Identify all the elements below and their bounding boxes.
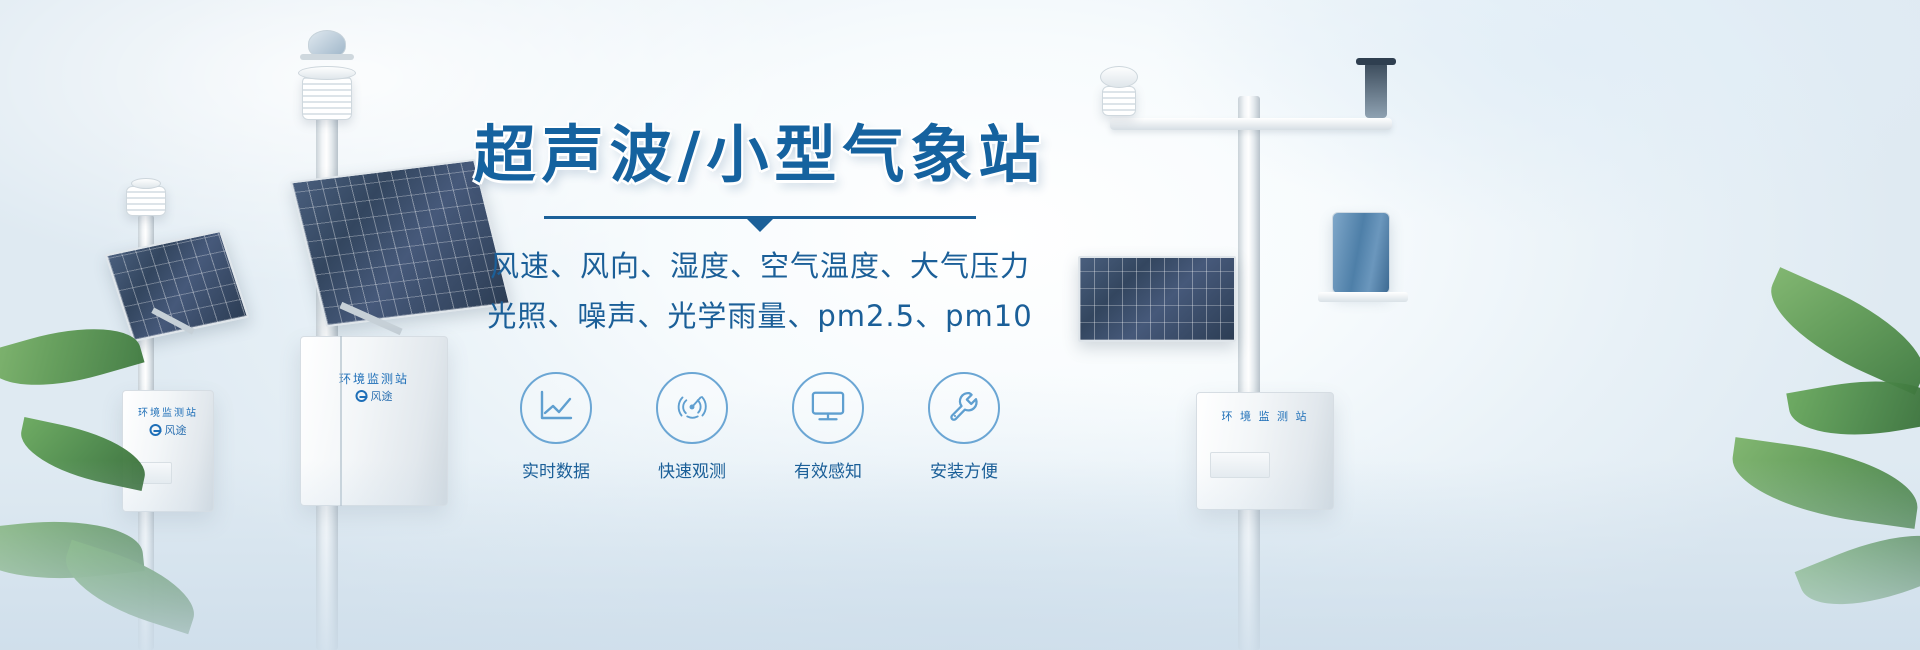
leaf-decoration-right-1 — [1755, 267, 1920, 395]
leaf-decoration-right-4 — [1795, 512, 1920, 628]
leaf-decoration-right-3 — [1726, 437, 1920, 529]
radar-signal-icon — [673, 387, 711, 430]
cabinet-label-left: 环境监测站 — [138, 404, 198, 419]
feature-icon-circle-1 — [520, 372, 592, 444]
cabinet-label-right: 环 境 监 测 站 — [1222, 408, 1309, 424]
feature-icon-circle-4 — [928, 372, 1000, 444]
feature-icon-circle-2 — [656, 372, 728, 444]
ground-haze — [0, 460, 1920, 650]
feature-item-easy-installation[interactable]: 安装方便 — [920, 372, 1008, 482]
subtitle-line-2: 光照、噪声、光学雨量、pm2.5、pm10 — [440, 295, 1080, 339]
mast-pole-right — [1238, 96, 1260, 650]
cabinet-brand-center: 风途 — [356, 388, 393, 404]
feature-item-realtime-data[interactable]: 实时数据 — [512, 372, 600, 482]
radiation-shield-sensor-left — [126, 186, 166, 216]
rain-gauge-right — [1332, 212, 1390, 294]
shield-top-disc-center — [298, 66, 356, 80]
subtitle-line-1: 风速、风向、湿度、空气温度、大气压力 — [440, 245, 1080, 289]
feature-item-effective-sensing[interactable]: 有效感知 — [784, 372, 872, 482]
wrench-tool-icon — [945, 387, 983, 430]
feature-icon-circle-3 — [792, 372, 864, 444]
line-chart-icon — [537, 389, 575, 428]
radiation-shield-sensor-right — [1102, 86, 1136, 116]
title-divider — [544, 216, 976, 219]
cross-arm-right — [1110, 118, 1392, 130]
feature-label-1: 实时数据 — [512, 457, 600, 482]
page-title: 超声波/小型气象站 — [440, 104, 1080, 194]
cabinet-door-seam-center — [340, 336, 342, 506]
brand-text-left: 风途 — [165, 422, 187, 438]
solar-panel-right — [1078, 256, 1236, 342]
feature-item-fast-observation[interactable]: 快速观测 — [648, 372, 736, 482]
feature-list: 实时数据 快 — [440, 372, 1080, 482]
leaf-decoration-left-1 — [0, 310, 145, 403]
brand-mark-icon-left — [150, 424, 162, 436]
sensor-arms-center — [300, 54, 354, 60]
cabinet-label-center: 环境监测站 — [339, 370, 409, 387]
anemometer-sensor-right — [1365, 62, 1387, 118]
brand-text-center: 风途 — [371, 388, 393, 404]
ultrasonic-head-right — [1100, 66, 1138, 88]
anemometer-vane-right — [1356, 58, 1396, 65]
feature-label-2: 快速观测 — [648, 457, 736, 482]
monitor-display-icon — [809, 389, 847, 428]
cabinet-brand-left: 风途 — [150, 422, 187, 438]
feature-label-3: 有效感知 — [784, 457, 872, 482]
banner-content: 超声波/小型气象站 风速、风向、湿度、空气温度、大气压力 光照、噪声、光学雨量、… — [440, 104, 1080, 482]
brand-mark-icon-center — [356, 390, 368, 402]
sensor-top-cap-left — [131, 178, 161, 189]
product-banner: 环境监测站 风途 环境监测站 风途 — [0, 0, 1920, 650]
cabinet-center — [300, 336, 448, 506]
cabinet-vent-right — [1210, 452, 1270, 478]
radiation-shield-sensor-center — [302, 76, 352, 120]
feature-label-4: 安装方便 — [920, 457, 1008, 482]
rain-gauge-shelf-right — [1318, 292, 1408, 302]
